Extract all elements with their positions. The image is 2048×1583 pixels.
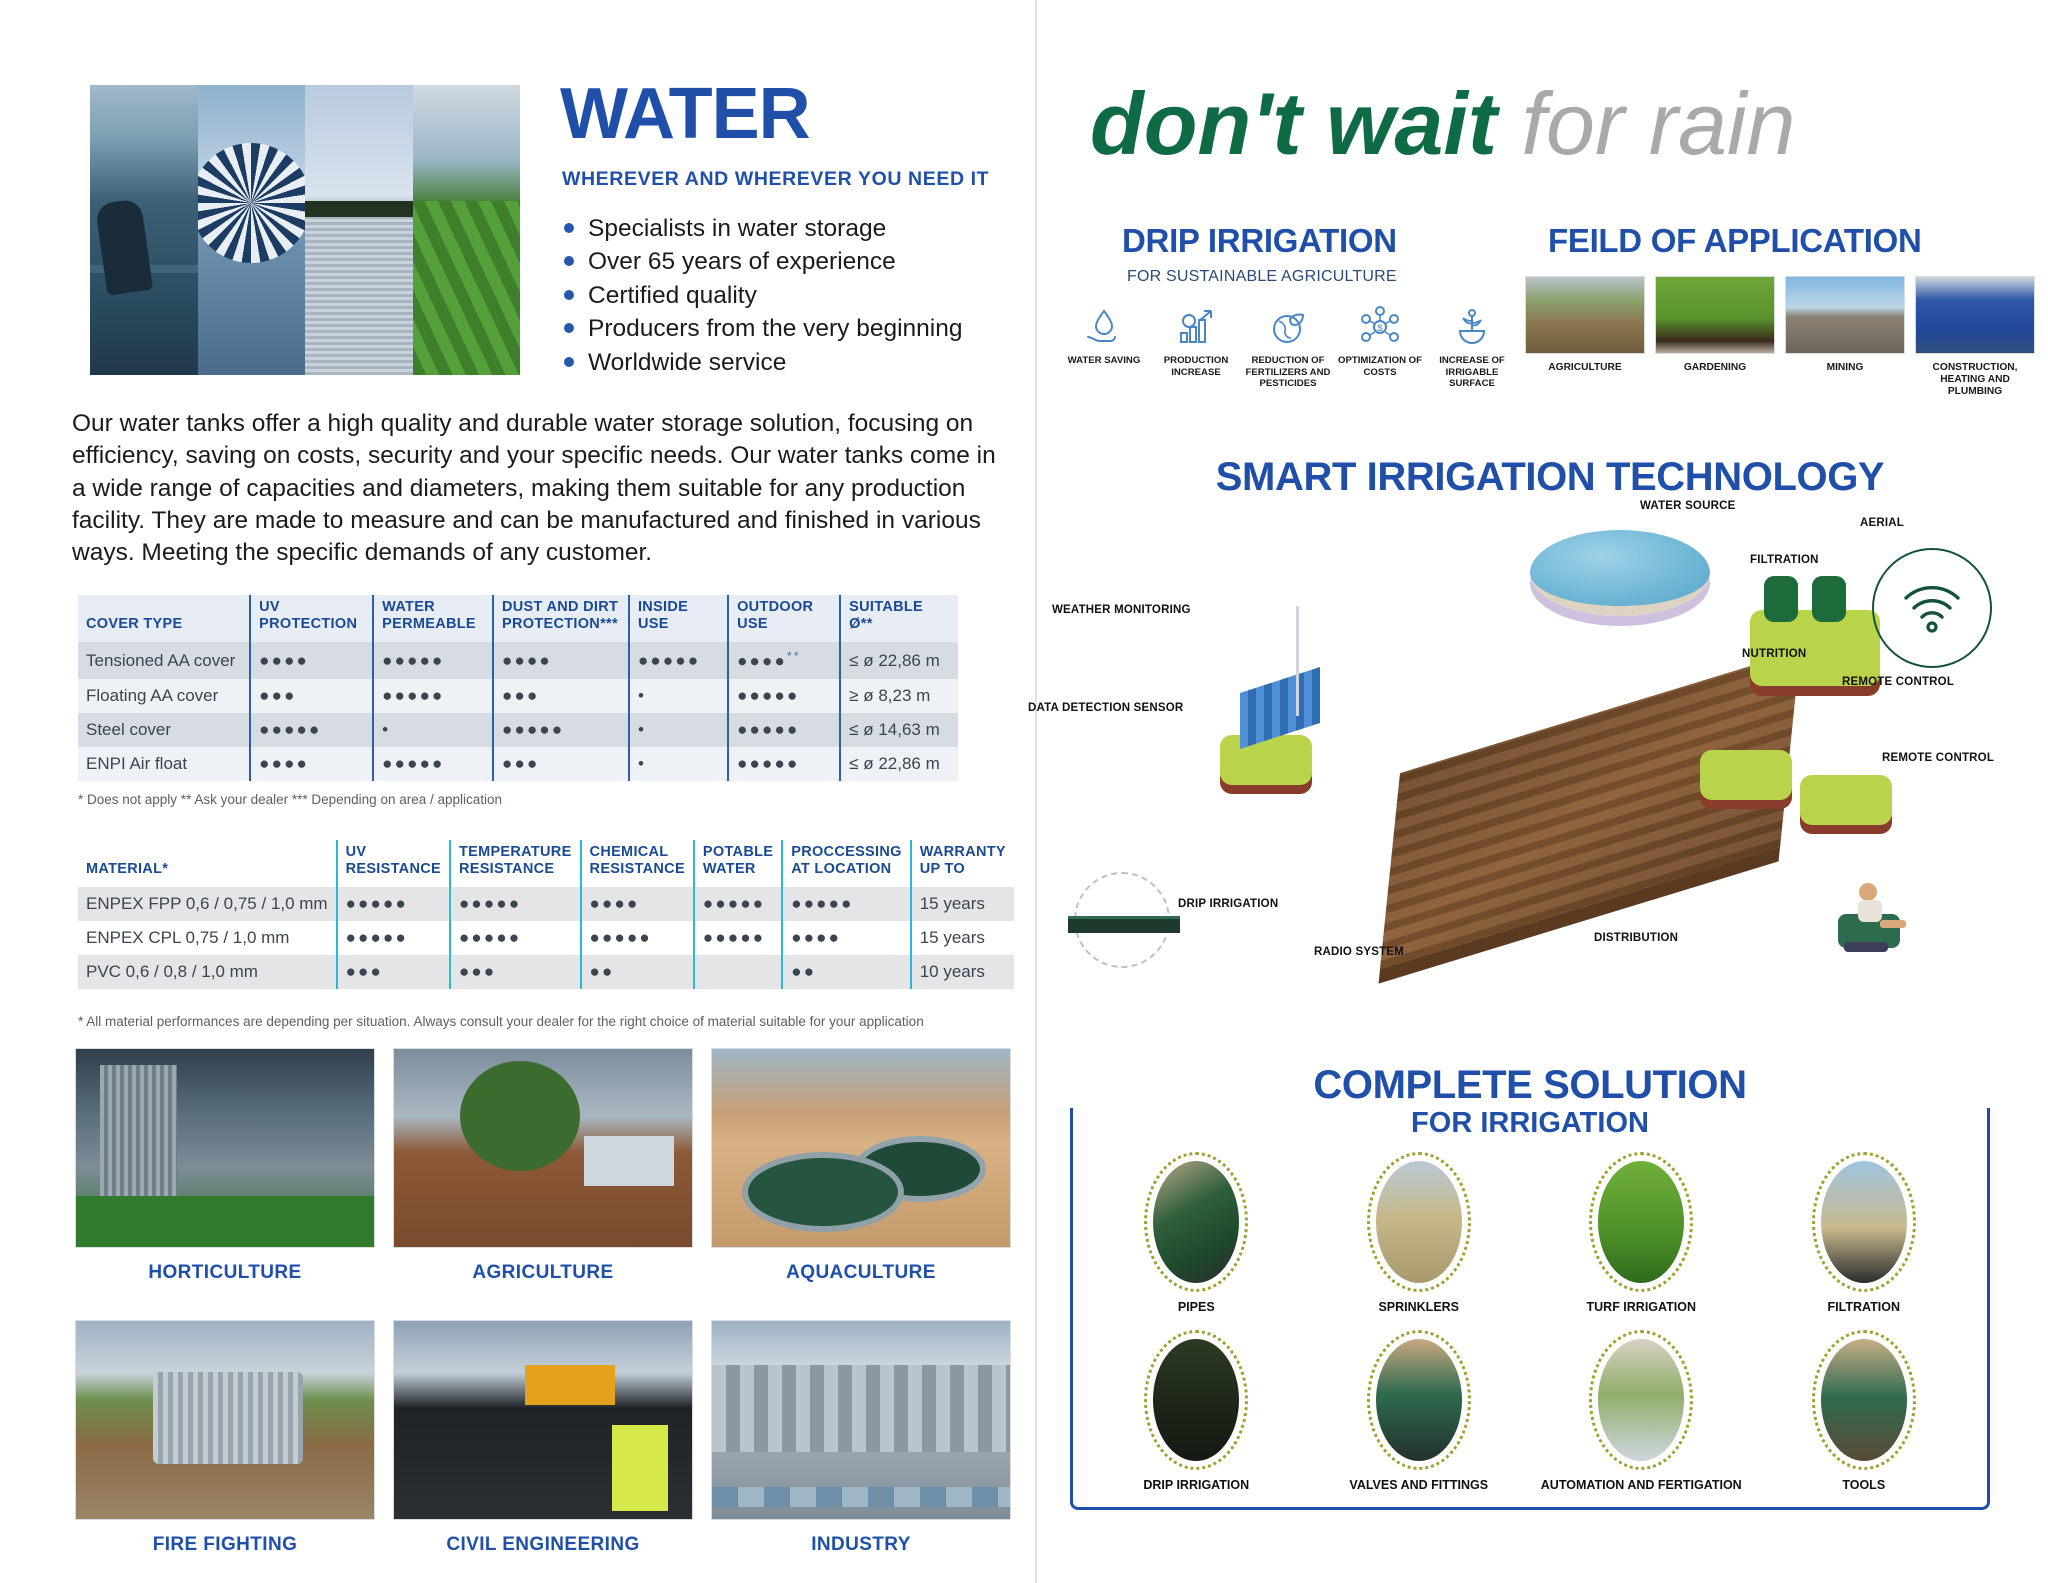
- cell-outdoor: ●●●●●: [728, 679, 840, 713]
- page-subtitle: WHEREVER AND WHEREVER YOU NEED IT: [562, 168, 989, 191]
- growth-chart-icon: [1174, 305, 1218, 349]
- cell-warranty: 15 years: [911, 887, 1014, 921]
- cover-table-footnote: * Does not apply ** Ask your dealer *** …: [78, 792, 502, 807]
- diagram-water-pond: [1530, 530, 1710, 616]
- drip-benefit-icons: WATER SAVING PRODUCTION INCREASE REDUCTI…: [1058, 305, 1518, 390]
- solution-caption: TOOLS: [1753, 1478, 1976, 1494]
- cell-water: ●●●●●: [373, 679, 493, 713]
- cell-uv: ●●●●●: [337, 887, 450, 921]
- cell-water: ●●●●●: [373, 747, 493, 781]
- cell-cover-name: ENPI Air float: [78, 747, 250, 781]
- page-title: WATER: [560, 78, 810, 150]
- th-outdoor-use: OUTDOOR USE: [728, 595, 840, 642]
- cell-material-name: ENPEX CPL 0,75 / 1,0 mm: [78, 921, 337, 955]
- list-item: Producers from the very beginning: [562, 312, 963, 345]
- benefit-label: PRODUCTION INCREASE: [1150, 355, 1242, 378]
- benefit-label: OPTIMIZATION OF COSTS: [1334, 355, 1426, 378]
- cell-inside: •: [629, 679, 728, 713]
- cell-inside: •: [629, 713, 728, 747]
- cell-diameter: ≤ ø 22,86 m: [840, 642, 958, 679]
- diagram-label-nutrition: NUTRITION: [1742, 648, 1806, 660]
- cell-material-name: ENPEX FPP 0,6 / 0,75 / 1,0 mm: [78, 887, 337, 921]
- field-of-application-heading: FEILD OF APPLICATION: [1548, 222, 1921, 260]
- th-material: MATERIAL*: [78, 840, 337, 887]
- gallery-item-fire-fighting: FIRE FIGHTING: [75, 1320, 375, 1556]
- gallery-item-civil-engineering: CIVIL ENGINEERING: [393, 1320, 693, 1556]
- cell-uv: ●●●●●: [337, 921, 450, 955]
- th-cover-type: COVER TYPE: [78, 595, 250, 642]
- solution-item-valves-fittings[interactable]: VALVES AND FITTINGS: [1308, 1330, 1531, 1494]
- diagram-label-weather-monitoring: WEATHER MONITORING: [1052, 604, 1191, 616]
- diagram-person-tablet: [1820, 872, 1930, 962]
- cell-dust: ●●●: [493, 679, 629, 713]
- solution-oval: [1144, 1152, 1248, 1292]
- solution-item-pipes[interactable]: PIPES: [1085, 1152, 1308, 1316]
- cell-uv: ●●●: [250, 679, 373, 713]
- material-table-footnote: * All material performances are dependin…: [78, 1014, 924, 1029]
- solution-item-tools[interactable]: TOOLS: [1753, 1330, 1976, 1494]
- table-row: ENPEX FPP 0,6 / 0,75 / 1,0 mm ●●●●● ●●●●…: [78, 887, 1014, 921]
- cell-outdoor: ●●●●**: [728, 642, 840, 679]
- solution-caption: PIPES: [1085, 1300, 1308, 1316]
- cell-diameter: ≤ ø 14,63 m: [840, 713, 958, 747]
- foa-item-gardening: GARDENING: [1655, 276, 1775, 399]
- benefit-label: REDUCTION OF FERTILIZERS AND PESTICIDES: [1242, 355, 1334, 390]
- diagram-crop-field: [1380, 651, 1800, 969]
- gallery-caption: AQUACULTURE: [711, 1262, 1011, 1284]
- photo-tools: [1821, 1339, 1907, 1461]
- hero-photo-covered-silo: [305, 85, 413, 375]
- solution-oval: [1589, 1152, 1693, 1292]
- solution-caption: AUTOMATION AND FERTIGATION: [1530, 1478, 1753, 1494]
- th-warranty: WARRANTY UP TO: [911, 840, 1014, 887]
- benefit-label: WATER SAVING: [1058, 355, 1150, 367]
- th-chemical-resistance: CHEMICAL RESISTANCE: [581, 840, 694, 887]
- table-row: Steel cover ●●●●● • ●●●●● • ●●●●● ≤ ø 14…: [78, 713, 958, 747]
- cell-outdoor-dots: ●●●●: [737, 652, 787, 671]
- table-row: ENPEX CPL 0,75 / 1,0 mm ●●●●● ●●●●● ●●●●…: [78, 921, 1014, 955]
- gallery-item-horticulture: HORTICULTURE: [75, 1048, 375, 1284]
- intro-paragraph: Our water tanks offer a high quality and…: [72, 408, 1012, 570]
- cover-type-table: COVER TYPE UV PROTECTION WATER PERMEABLE…: [78, 595, 958, 781]
- photo-fire-fighting: [75, 1320, 375, 1520]
- cell-outdoor: ●●●●●: [728, 713, 840, 747]
- cell-cover-name: Tensioned AA cover: [78, 642, 250, 679]
- gallery-item-agriculture: AGRICULTURE: [393, 1048, 693, 1284]
- diagram-label-remote-control-2: REMOTE CONTROL: [1882, 752, 1994, 764]
- cell-warranty: 10 years: [911, 955, 1014, 989]
- table-header-row: MATERIAL* UV RESISTANCE TEMPERATURE RESI…: [78, 840, 1014, 887]
- th-dust-dirt-protection: DUST AND DIRT PROTECTION***: [493, 595, 629, 642]
- complete-solution-heading: COMPLETE SOLUTION: [1070, 1063, 1990, 1108]
- brochure-page: WATER WHEREVER AND WHEREVER YOU NEED IT …: [0, 0, 2048, 1583]
- complete-solution-grid: PIPES SPRINKLERS TURF IRRIGATION FILTRAT…: [1085, 1152, 1975, 1493]
- solution-oval: [1144, 1330, 1248, 1470]
- smart-irrigation-diagram: WATER SOURCE FILTRATION AERIAL NUTRITION…: [1060, 520, 2010, 1020]
- globe-leaf-icon: [1266, 305, 1310, 349]
- diagram-weather-mast: [1296, 606, 1299, 716]
- cell-inside: •: [629, 747, 728, 781]
- gallery-caption: AGRICULTURE: [393, 1262, 693, 1284]
- photo-civil-engineering: [393, 1320, 693, 1520]
- drip-irrigation-heading: DRIP IRRIGATION: [1122, 222, 1397, 260]
- photo-mining-site: [1785, 276, 1905, 354]
- diagram-label-drip-irrigation: DRIP IRRIGATION: [1178, 898, 1278, 910]
- cell-outdoor-footnote: **: [787, 649, 801, 663]
- cell-diameter: ≤ ø 22,86 m: [840, 747, 958, 781]
- gallery-caption: HORTICULTURE: [75, 1262, 375, 1284]
- cell-processing: ●●●●●: [782, 887, 910, 921]
- cell-uv: ●●●●: [250, 747, 373, 781]
- feature-bullet-list: Specialists in water storage Over 65 yea…: [562, 212, 963, 379]
- diagram-drip-detail-circle: [1074, 872, 1170, 968]
- diagram-label-filtration: FILTRATION: [1750, 554, 1819, 566]
- th-inside-use: INSIDE USE: [629, 595, 728, 642]
- solution-item-turf-irrigation[interactable]: TURF IRRIGATION: [1530, 1152, 1753, 1316]
- photo-turf-irrigation: [1598, 1161, 1684, 1283]
- photo-construction-pipes: [1915, 276, 2035, 354]
- cell-potable: [694, 955, 782, 989]
- benefit-irrigable-surface: INCREASE OF IRRIGABLE SURFACE: [1426, 305, 1518, 390]
- photo-drip-irrigation: [1153, 1339, 1239, 1461]
- photo-horticulture: [75, 1048, 375, 1248]
- solution-item-filtration[interactable]: FILTRATION: [1753, 1152, 1976, 1316]
- panel-divider: [1035, 0, 1037, 1583]
- cell-dust: ●●●●●: [493, 713, 629, 747]
- th-temperature-resistance: TEMPERATURE RESISTANCE: [450, 840, 581, 887]
- cell-temp: ●●●●●: [450, 887, 581, 921]
- th-suitable-diameter: SUITABLE Ø**: [840, 595, 958, 642]
- svg-text:$: $: [1377, 323, 1382, 333]
- list-item: Worldwide service: [562, 346, 963, 379]
- th-processing-at-location: PROCCESSING AT LOCATION: [782, 840, 910, 887]
- benefit-production-increase: PRODUCTION INCREASE: [1150, 305, 1242, 390]
- table-row: Tensioned AA cover ●●●● ●●●●● ●●●● ●●●●●…: [78, 642, 958, 679]
- solution-caption: TURF IRRIGATION: [1530, 1300, 1753, 1316]
- wifi-badge: [1872, 548, 1992, 668]
- cell-temp: ●●●: [450, 955, 581, 989]
- solution-item-automation-fertigation[interactable]: AUTOMATION AND FERTIGATION: [1530, 1330, 1753, 1494]
- diagram-drip-tube: [1068, 916, 1180, 933]
- cell-dust: ●●●: [493, 747, 629, 781]
- gallery-caption: FIRE FIGHTING: [75, 1534, 375, 1556]
- diagram-label-distribution: DISTRIBUTION: [1594, 932, 1678, 944]
- gallery-item-aquaculture: AQUACULTURE: [711, 1048, 1011, 1284]
- photo-industry: [711, 1320, 1011, 1520]
- table-header-row: COVER TYPE UV PROTECTION WATER PERMEABLE…: [78, 595, 958, 642]
- solution-oval: [1812, 1330, 1916, 1470]
- cell-inside: ●●●●●: [629, 642, 728, 679]
- table-row: Floating AA cover ●●● ●●●●● ●●● • ●●●●● …: [78, 679, 958, 713]
- gallery-caption: INDUSTRY: [711, 1534, 1011, 1556]
- photo-agriculture: [393, 1048, 693, 1248]
- benefit-label: INCREASE OF IRRIGABLE SURFACE: [1426, 355, 1518, 390]
- photo-valves-fittings: [1376, 1339, 1462, 1461]
- solution-caption: SPRINKLERS: [1308, 1300, 1531, 1316]
- list-item: Specialists in water storage: [562, 212, 963, 245]
- cell-water: ●●●●●: [373, 642, 493, 679]
- list-item: Over 65 years of experience: [562, 245, 963, 278]
- benefit-optimization-costs: $ OPTIMIZATION OF COSTS: [1334, 305, 1426, 390]
- cell-uv: ●●●●●: [250, 713, 373, 747]
- photo-pipes: [1153, 1161, 1239, 1283]
- diagram-label-remote-control-1: REMOTE CONTROL: [1842, 676, 1954, 688]
- hero-photo-tank-top: [198, 85, 306, 375]
- gallery-caption: CIVIL ENGINEERING: [393, 1534, 693, 1556]
- foa-item-agriculture: AGRICULTURE: [1525, 276, 1645, 399]
- photo-gardening-sprinkler: [1655, 276, 1775, 354]
- diagram-label-radio-system: RADIO SYSTEM: [1314, 946, 1404, 958]
- photo-agriculture-field: [1525, 276, 1645, 354]
- th-water-permeable: WATER PERMEABLE: [373, 595, 493, 642]
- cell-warranty: 15 years: [911, 921, 1014, 955]
- diagram-control-pad: [1800, 775, 1892, 825]
- solution-oval: [1812, 1152, 1916, 1292]
- table-row: ENPI Air float ●●●● ●●●●● ●●● • ●●●●● ≤ …: [78, 747, 958, 781]
- hero-photo-crops: [413, 85, 521, 375]
- hero-photo-strip: [90, 85, 520, 375]
- drip-irrigation-subheading: FOR SUSTAINABLE AGRICULTURE: [1127, 268, 1397, 286]
- cell-diameter: ≥ ø 8,23 m: [840, 679, 958, 713]
- left-panel: WATER WHEREVER AND WHEREVER YOU NEED IT …: [0, 0, 1035, 1583]
- foa-label: MINING: [1785, 362, 1905, 374]
- material-table: MATERIAL* UV RESISTANCE TEMPERATURE RESI…: [78, 840, 1014, 989]
- diagram-label-data-detection-sensor: DATA DETECTION SENSOR: [1028, 702, 1183, 714]
- gallery-item-industry: INDUSTRY: [711, 1320, 1011, 1556]
- solution-item-sprinklers[interactable]: SPRINKLERS: [1308, 1152, 1531, 1316]
- tagline-green: don't wait: [1090, 74, 1497, 173]
- tagline-gray: for rain: [1522, 74, 1796, 173]
- solution-caption: DRIP IRRIGATION: [1085, 1478, 1308, 1494]
- th-potable-water: POTABLE WATER: [694, 840, 782, 887]
- foa-item-construction: CONSTRUCTION, HEATING AND PLUMBING: [1915, 276, 2035, 399]
- photo-automation-fertigation: [1598, 1339, 1684, 1461]
- smart-irrigation-heading: SMART IRRIGATION TECHNOLOGY: [1100, 455, 2000, 500]
- solution-item-drip-irrigation[interactable]: DRIP IRRIGATION: [1085, 1330, 1308, 1494]
- complete-solution-subheading: FOR IRRIGATION: [1070, 1107, 1990, 1140]
- foa-label: AGRICULTURE: [1525, 362, 1645, 374]
- diagram-nutrition-pad: [1700, 750, 1792, 800]
- solution-caption: FILTRATION: [1753, 1300, 1976, 1316]
- sprout-globe-icon: [1450, 305, 1494, 349]
- cell-potable: ●●●●●: [694, 921, 782, 955]
- tagline: don't wait for rain: [1090, 80, 1795, 168]
- water-drop-hand-icon: [1082, 305, 1126, 349]
- cell-water: •: [373, 713, 493, 747]
- cell-cover-name: Steel cover: [78, 713, 250, 747]
- table-row: PVC 0,6 / 0,8 / 1,0 mm ●●● ●●● ●● ●● 10 …: [78, 955, 1014, 989]
- photo-sprinklers: [1376, 1161, 1462, 1283]
- diagram-label-water-source: WATER SOURCE: [1640, 500, 1735, 512]
- photo-aquaculture: [711, 1048, 1011, 1248]
- hero-photo-lake-liner: [90, 85, 198, 375]
- cell-processing: ●●: [782, 955, 910, 989]
- cell-potable: ●●●●●: [694, 887, 782, 921]
- solution-caption: VALVES AND FITTINGS: [1308, 1478, 1531, 1494]
- th-uv-resistance: UV RESISTANCE: [337, 840, 450, 887]
- solution-oval: [1367, 1152, 1471, 1292]
- cell-material-name: PVC 0,6 / 0,8 / 1,0 mm: [78, 955, 337, 989]
- cost-network-icon: $: [1358, 305, 1402, 349]
- cell-uv: ●●●●: [250, 642, 373, 679]
- diagram-sensor-pad: [1220, 735, 1312, 785]
- cell-uv: ●●●: [337, 955, 450, 989]
- wifi-icon: [1900, 582, 1964, 634]
- cell-cover-name: Floating AA cover: [78, 679, 250, 713]
- solution-oval: [1589, 1330, 1693, 1470]
- solution-oval: [1367, 1330, 1471, 1470]
- foa-item-mining: MINING: [1785, 276, 1905, 399]
- cell-chem: ●●: [581, 955, 694, 989]
- benefit-water-saving: WATER SAVING: [1058, 305, 1150, 390]
- list-item: Certified quality: [562, 279, 963, 312]
- cell-chem: ●●●●●: [581, 921, 694, 955]
- cell-processing: ●●●●: [782, 921, 910, 955]
- photo-filtration: [1821, 1161, 1907, 1283]
- benefit-reduction-fertilizers: REDUCTION OF FERTILIZERS AND PESTICIDES: [1242, 305, 1334, 390]
- foa-label: CONSTRUCTION, HEATING AND PLUMBING: [1915, 362, 2035, 399]
- th-uv-protection: UV PROTECTION: [250, 595, 373, 642]
- cell-outdoor: ●●●●●: [728, 747, 840, 781]
- cell-temp: ●●●●●: [450, 921, 581, 955]
- cell-chem: ●●●●: [581, 887, 694, 921]
- foa-label: GARDENING: [1655, 362, 1775, 374]
- field-of-application-row: AGRICULTURE GARDENING MINING CONSTRUCTIO…: [1525, 276, 2035, 399]
- diagram-label-aerial: AERIAL: [1860, 517, 1904, 529]
- cell-dust: ●●●●: [493, 642, 629, 679]
